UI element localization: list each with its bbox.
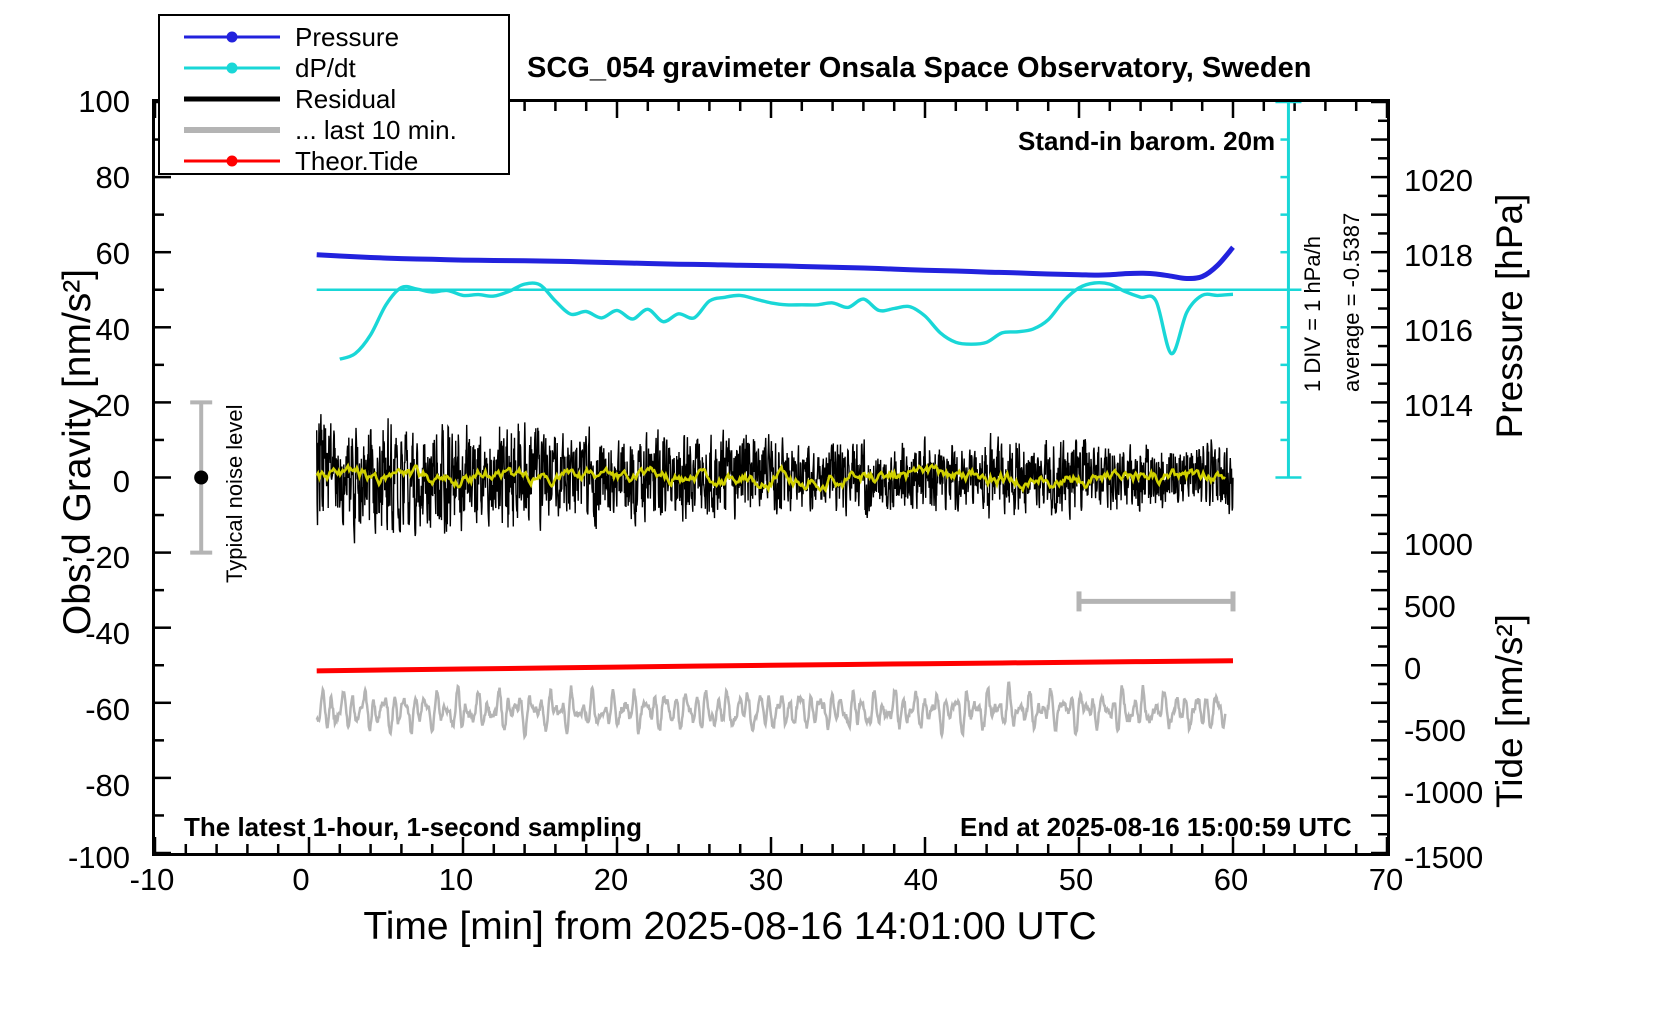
legend: Pressure dP/dt Residual ... last 10 min. xyxy=(158,14,510,175)
legend-label-residual: Residual xyxy=(295,84,396,115)
series-theor-tide xyxy=(317,661,1233,671)
plot-area xyxy=(152,99,1390,856)
legend-swatch-theor-tide xyxy=(184,146,280,176)
legend-item-pressure[interactable]: Pressure xyxy=(160,22,508,52)
legend-label-pressure: Pressure xyxy=(295,22,399,53)
footer-left-annotation: The latest 1-hour, 1-second sampling xyxy=(184,812,642,843)
plot-svg xyxy=(155,102,1387,853)
dpdt-scale-axis xyxy=(1275,102,1301,478)
average-annotation: average = -0.5387 xyxy=(1339,213,1365,392)
legend-swatch-residual xyxy=(184,84,280,114)
xtick-20: 20 xyxy=(551,862,671,898)
x-axis-label: Time [min] from 2025-08-16 14:01:00 UTC xyxy=(0,905,1460,949)
series-dpdt xyxy=(340,283,1233,359)
typical-noise-level-marker xyxy=(190,402,212,552)
xtick-60: 60 xyxy=(1171,862,1291,898)
ytick-left-0: 100 xyxy=(20,84,130,120)
xtick-50: 50 xyxy=(1016,862,1136,898)
standin-barometer-annotation: Stand-in barom. 20m xyxy=(1018,126,1275,157)
legend-item-last-10-min[interactable]: ... last 10 min. xyxy=(160,115,508,145)
plot-root: 100 80 60 40 20 0 -20 -40 -60 -80 -100 1… xyxy=(0,0,1660,1020)
y-axis-left-label: Obs’d Gravity [nm/s²] xyxy=(56,142,100,762)
xtick-40: 40 xyxy=(861,862,981,898)
legend-swatch-last-10-min xyxy=(184,115,280,145)
y-axis-right-tide-label: Tide [nm/s²] xyxy=(1489,531,1531,891)
y-axis-right-pressure-label: Pressure [hPa] xyxy=(1489,106,1531,526)
xtick--10: -10 xyxy=(92,862,212,898)
xtick-10: 10 xyxy=(396,862,516,898)
typical-noise-level-label: Typical noise level xyxy=(222,404,248,583)
series-last-10-min xyxy=(317,683,1226,737)
legend-item-dpdt[interactable]: dP/dt xyxy=(160,53,508,83)
legend-swatch-dpdt xyxy=(184,53,280,83)
legend-swatch-pressure xyxy=(184,22,280,52)
legend-label-last-10-min: ... last 10 min. xyxy=(295,115,457,146)
legend-label-theor-tide: Theor.Tide xyxy=(295,146,418,177)
page-title: SCG_054 gravimeter Onsala Space Observat… xyxy=(527,52,1311,85)
xtick-30: 30 xyxy=(706,862,826,898)
legend-item-residual[interactable]: Residual xyxy=(160,84,508,114)
xtick-0: 0 xyxy=(241,862,361,898)
xtick-70: 70 xyxy=(1326,862,1446,898)
series-pressure xyxy=(317,247,1233,278)
div-scale-annotation: 1 DIV = 1 hPa/h xyxy=(1300,236,1326,392)
footer-right-annotation: End at 2025-08-16 15:00:59 UTC xyxy=(960,812,1352,843)
ytick-left-9: -80 xyxy=(20,768,130,804)
legend-label-dpdt: dP/dt xyxy=(295,53,356,84)
legend-item-theor-tide[interactable]: Theor.Tide xyxy=(160,146,508,176)
last10-span-marker xyxy=(1079,591,1233,611)
